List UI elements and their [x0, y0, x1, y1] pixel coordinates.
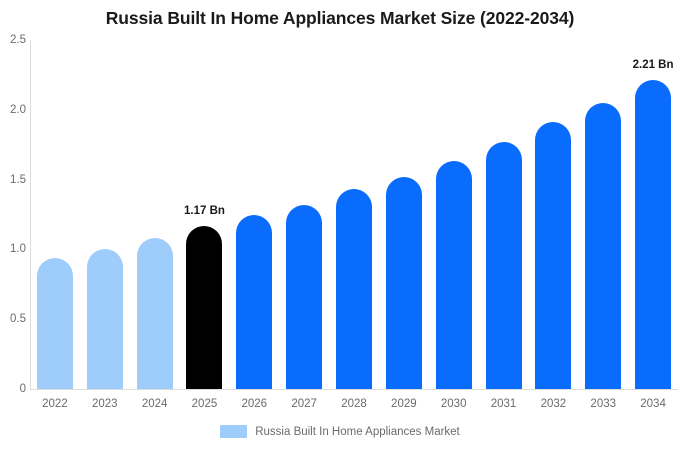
chart-container: Russia Built In Home Appliances Market S…: [0, 0, 680, 450]
x-axis-tick-2026: 2026: [242, 398, 268, 410]
x-axis-tick-2023: 2023: [92, 398, 118, 410]
bar-series: 20222023202420251.17 Bn20262027202820292…: [0, 0, 680, 450]
bar-2033[interactable]: [585, 103, 621, 389]
legend-label: Russia Built In Home Appliances Market: [255, 426, 460, 438]
x-axis-tick-2033: 2033: [590, 398, 616, 410]
bar-2027[interactable]: [286, 205, 322, 389]
bar-2031[interactable]: [486, 142, 522, 389]
x-axis-tick-2024: 2024: [142, 398, 168, 410]
bar-2029[interactable]: [386, 177, 422, 389]
bar-2024[interactable]: [137, 238, 173, 389]
x-axis-tick-2027: 2027: [291, 398, 317, 410]
bar-2025[interactable]: [186, 226, 222, 389]
x-axis-tick-2030: 2030: [441, 398, 467, 410]
bar-2034[interactable]: [635, 80, 671, 389]
x-axis-tick-2034: 2034: [640, 398, 666, 410]
bar-value-label-2025: 1.17 Bn: [184, 205, 225, 217]
bar-2028[interactable]: [336, 189, 372, 389]
x-axis-tick-2025: 2025: [192, 398, 218, 410]
bar-2032[interactable]: [535, 122, 571, 389]
x-axis-tick-2028: 2028: [341, 398, 367, 410]
legend-swatch: [220, 425, 247, 438]
x-axis-tick-2032: 2032: [541, 398, 567, 410]
x-axis-tick-2029: 2029: [391, 398, 417, 410]
x-axis-tick-2022: 2022: [42, 398, 68, 410]
bar-2022[interactable]: [37, 258, 73, 389]
bar-2023[interactable]: [87, 249, 123, 389]
bar-2030[interactable]: [436, 161, 472, 389]
bar-value-label-2034: 2.21 Bn: [633, 59, 674, 71]
x-axis-tick-2031: 2031: [491, 398, 517, 410]
bar-2026[interactable]: [236, 215, 272, 390]
chart-legend: Russia Built In Home Appliances Market: [0, 425, 680, 438]
